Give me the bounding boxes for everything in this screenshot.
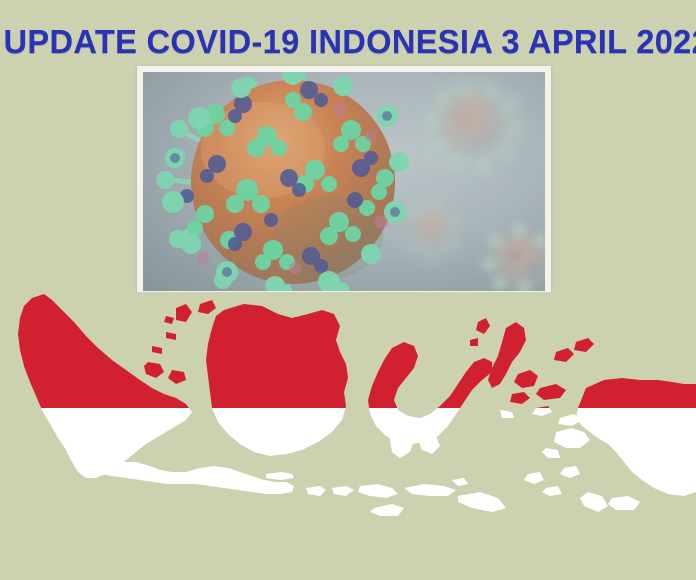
coronavirus-illustration-icon: [143, 72, 545, 291]
virus-photo: [143, 72, 545, 291]
page-title: UPDATE COVID-19 INDONESIA 3 APRIL 2022: [3, 22, 692, 62]
indonesia-map-svg: [0, 292, 696, 580]
indonesia-map: [0, 292, 696, 580]
poster-canvas: UPDATE COVID-19 INDONESIA 3 APRIL 2022: [0, 0, 696, 580]
virus-photo-frame: [137, 66, 551, 297]
